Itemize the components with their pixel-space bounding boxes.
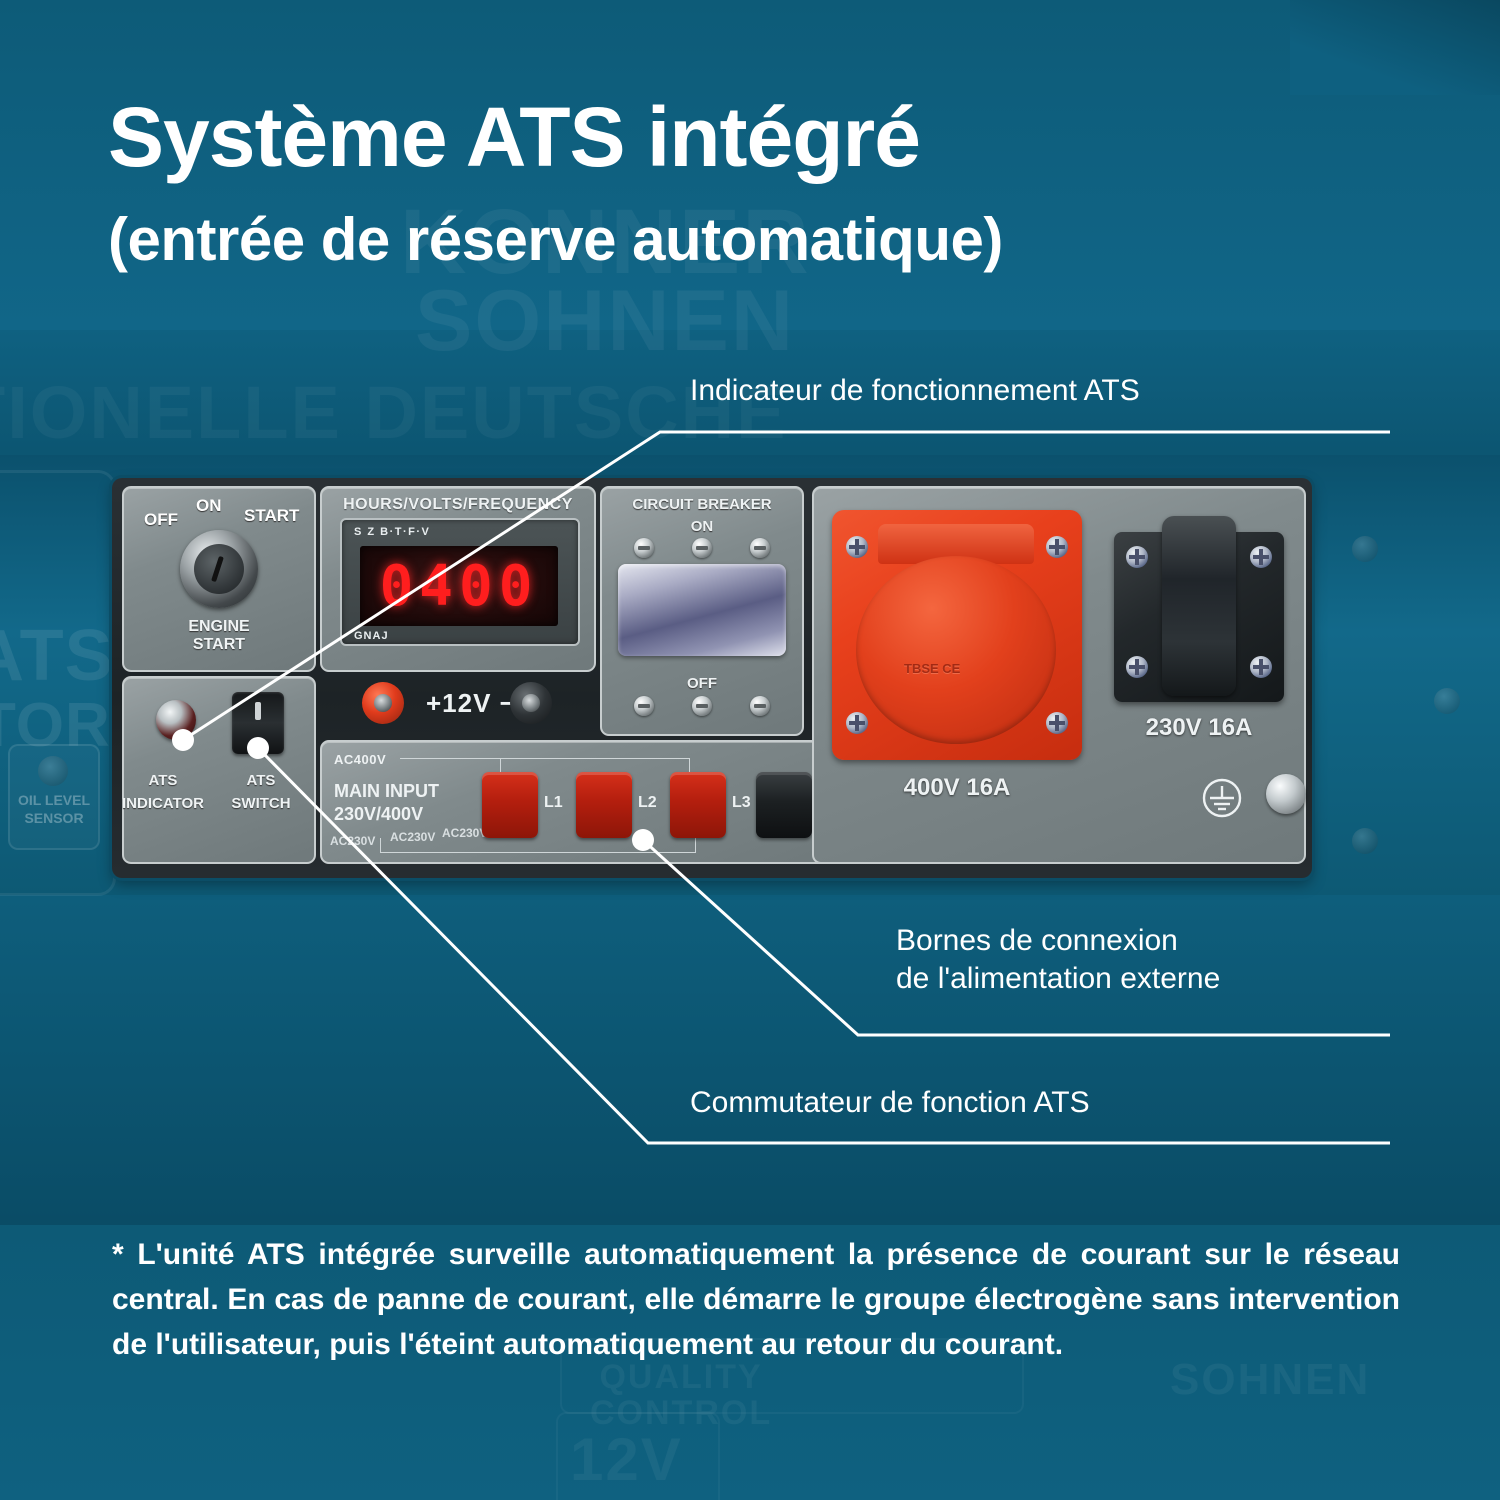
terminal-l2-label: L2 [638,794,657,812]
callout-external-power-terminals: Bornes de connexion de l'alimentation ex… [896,922,1220,999]
callout-ats-function-switch: Commutateur de fonction ATS [690,1084,1090,1122]
dc-12v-label: +12V − [426,688,516,719]
circuit-breaker-section[interactable]: CIRCUIT BREAKER ON OFF [600,486,804,736]
ignition-on-label: ON [196,496,222,516]
ignition-keyhole-icon [211,556,224,582]
meter-bottom-marks: GNAJ [354,630,389,642]
socket-400v-embossed-text: TBSE CE [904,660,1010,718]
ground-terminal-bolt[interactable] [1266,774,1306,814]
watermark-brand-line2: SOHNEN [415,272,795,371]
breaker-screw-bottom-mid [692,696,712,716]
oil-sensor-icon [38,756,68,786]
socket-230v-flap[interactable] [1162,516,1236,696]
circuit-breaker-title: CIRCUIT BREAKER [602,496,802,513]
breaker-screw-bottom-right [750,696,770,716]
main-input-title: MAIN INPUT 230V/400V [334,780,439,825]
socket-400v-label: 400V 16A [832,774,1082,802]
main-input-wire-ac230 [380,838,696,853]
socket-230v-screw-bl [1126,656,1148,678]
socket-400v-16a[interactable]: TBSE CE [832,510,1082,760]
circuit-breaker-rocker[interactable] [618,564,786,656]
meter-title: HOURS/VOLTS/FREQUENCY [322,496,594,514]
ats-section[interactable]: ATS INDICATOR ATS SWITCH [122,676,316,864]
terminal-n[interactable] [756,772,812,838]
main-input-section: AC400V MAIN INPUT 230V/400V AC230V AC230… [320,740,836,864]
socket-230v-screw-tl [1126,546,1148,568]
dc-negative-terminal[interactable] [510,682,552,724]
panel-screw-right-top [1352,536,1378,562]
circuit-breaker-off-label: OFF [602,675,802,692]
meter-display-value: 0400 [360,546,558,626]
ats-toggle-switch[interactable] [232,692,284,754]
earth-ground-icon [1200,776,1244,820]
main-input-ac400-label: AC400V [334,752,386,767]
panel-screw-right-bottom [1352,828,1378,854]
breaker-screw-top-left [634,538,654,558]
panel-screw-right-mid [1434,688,1460,714]
ignition-section[interactable]: OFF ON START ENGINE START [122,486,316,672]
background-band-lower [0,895,1500,1225]
socket-230v-16a[interactable] [1114,532,1284,702]
ignition-off-label: OFF [144,510,178,530]
watermark-german-text: TIONELLE DEUTSCHE [0,370,787,455]
terminal-l1-label: L1 [544,794,563,812]
terminal-l3[interactable] [670,772,726,838]
background-corner-shade [1290,0,1500,95]
dc-positive-terminal[interactable] [362,682,404,724]
meter-lcd-display: 0400 [360,546,558,626]
socket-400v-screw-br [1046,712,1068,734]
socket-400v-lid[interactable]: TBSE CE [856,556,1056,744]
sockets-section: TBSE CE 400V 16A 230V 16A [812,486,1306,864]
ignition-caption: ENGINE START [124,618,314,655]
terminal-l3-label: L3 [732,794,751,812]
breaker-screw-top-mid [692,538,712,558]
infographic-root: KONNER SOHNEN TIONELLE DEUTSCHE QUALITY … [0,0,1500,1500]
ignition-key-switch[interactable] [180,530,258,608]
ats-switch-caption: ATS SWITCH [186,770,336,815]
breaker-screw-top-right [750,538,770,558]
socket-230v-label: 230V 16A [1108,714,1290,742]
generator-control-panel: OFF ON START ENGINE START HOURS/VOLTS/FR… [112,478,1312,878]
terminal-l2[interactable] [576,772,632,838]
page-subtitle: (entrée de réserve automatique) [108,210,1003,270]
socket-400v-screw-tl [846,536,868,558]
ats-indicator-lamp [156,700,196,740]
socket-230v-screw-br [1250,656,1272,678]
meter-window: S Z B·T·F·V 0400 GNAJ [340,518,580,646]
terminal-l1[interactable] [482,772,538,838]
socket-230v-screw-tr [1250,546,1272,568]
socket-400v-screw-tr [1046,536,1068,558]
callout-ats-indicator: Indicateur de fonctionnement ATS [690,372,1140,410]
oil-sensor-label: OIL LEVEL SENSOR [10,792,98,827]
meter-section: HOURS/VOLTS/FREQUENCY S Z B·T·F·V 0400 G… [320,486,596,672]
socket-400v-screw-bl [846,712,868,734]
dc-12v-section: +12V − [320,674,592,732]
ignition-key-barrel [194,544,244,594]
breaker-screw-bottom-left [634,696,654,716]
watermark-box-battery [556,1412,720,1500]
main-input-ac230-label-a: AC230V [330,834,375,848]
page-title: Système ATS intégré [108,95,920,179]
circuit-breaker-on-label: ON [602,518,802,535]
ignition-start-label: START [244,506,299,526]
left-overlay-ats-text: ATS [0,615,114,697]
footer-note: * L'unité ATS intégrée surveille automat… [112,1232,1400,1367]
oil-level-sensor-badge: OIL LEVEL SENSOR [8,744,100,850]
meter-top-marks: S Z B·T·F·V [354,526,430,538]
